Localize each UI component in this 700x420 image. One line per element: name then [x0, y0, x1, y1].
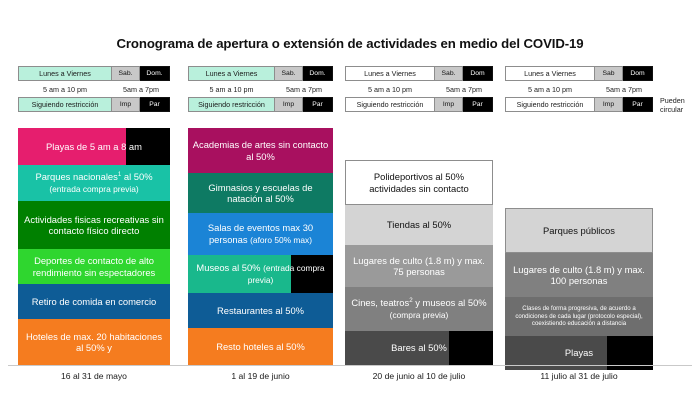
activity-label: Parques públicos — [543, 225, 615, 236]
activity-label: Cines, teatros2 y museos al 50% (compra … — [349, 297, 489, 321]
legend-hours-row: 5 am a 10 pm 5am a 7pm — [505, 81, 653, 97]
legend-odd-cell: Imp — [595, 97, 623, 112]
activity-label: Salas de eventos max 30 personas (aforo … — [192, 222, 329, 246]
legend-saturday-cell: Sab — [595, 66, 623, 81]
page-title: Cronograma de apertura o extensión de ac… — [0, 36, 700, 51]
legend-days-row: Lunes a Viernes Sab Dom — [505, 66, 653, 81]
activity-label: Clases de forma progresiva, de acuerdo a… — [509, 305, 649, 328]
legend-weekend-hours: 5am a 7pm — [275, 85, 333, 94]
activity-label: Polideportivos al 50% actividades sin co… — [350, 171, 488, 194]
activity-block: Polideportivos al 50% actividades sin co… — [345, 160, 493, 205]
activity-label: Actividades fisicas recreativas sin cont… — [22, 214, 166, 237]
activity-block: Lugares de culto (1.8 m) y max. 75 perso… — [345, 245, 493, 287]
legend-weekday-cell: Lunes a Viernes — [18, 66, 112, 81]
legend-saturday-cell: Sab. — [435, 66, 463, 81]
legend-restriction-cell: Siguiendo restricción — [345, 97, 435, 112]
activity-block: Cines, teatros2 y museos al 50% (compra … — [345, 287, 493, 331]
legend-column-2: Lunes a Viernes Sab. Dom. 5 am a 10 pm 5… — [188, 66, 333, 112]
legend-restriction-row: Siguiendo restricción Imp Par — [18, 97, 170, 112]
legend-weekend-hours: 5am a 7pm — [112, 85, 170, 94]
baseline-divider — [8, 365, 692, 366]
activity-block: Parques públicos — [505, 208, 653, 253]
legend-even-cell: Par — [140, 97, 170, 112]
legend-restriction-cell: Siguiendo restricción — [505, 97, 595, 112]
activity-label: Hoteles de max. 20 habitaciones al 50% y — [22, 331, 166, 354]
activity-label: Playas de 5 am a 8 am — [46, 141, 142, 152]
activity-block: Restaurantes al 50% — [188, 293, 333, 328]
legend-even-cell: Par — [463, 97, 493, 112]
legend-odd-cell: Imp — [275, 97, 303, 112]
activity-block: Retiro de comida en comercio — [18, 284, 170, 319]
legend-weekend-hours: 5am a 7pm — [435, 85, 493, 94]
legend-weekday-hours: 5 am a 10 pm — [345, 85, 435, 94]
activity-block: Academias de artes sin contacto al 50% — [188, 128, 333, 173]
legend-days-row: Lunes a Viernes Sab. Dom — [345, 66, 493, 81]
timeline-column-4: Parques públicosLugares de culto (1.8 m)… — [505, 208, 653, 370]
legend-weekday-cell: Lunes a Viernes — [345, 66, 435, 81]
timeline-column-1: Playas de 5 am a 8 amParques nacionales1… — [18, 128, 170, 365]
activity-block: Actividades fisicas recreativas sin cont… — [18, 201, 170, 249]
legend-hours-row: 5 am a 10 pm 5am a 7pm — [345, 81, 493, 97]
legend-weekday-hours: 5 am a 10 pm — [188, 85, 275, 94]
legend-saturday-cell: Sab. — [112, 66, 140, 81]
legend-weekday-hours: 5 am a 10 pm — [505, 85, 595, 94]
legend-sunday-cell: Dom. — [140, 66, 170, 81]
activity-label: Retiro de comida en comercio — [32, 296, 157, 307]
legend-weekday-cell: Lunes a Viernes — [188, 66, 275, 81]
legend-column-1: Lunes a Viernes Sab. Dom. 5 am a 10 pm 5… — [18, 66, 170, 112]
date-label-column-4: 11 julio al 31 de julio — [505, 371, 653, 381]
activity-label: Restaurantes al 50% — [217, 305, 304, 316]
activity-label: Playas — [565, 347, 593, 358]
legend-hours-row: 5 am a 10 pm 5am a 7pm — [18, 81, 170, 97]
activity-block: Hoteles de max. 20 habitaciones al 50% y — [18, 319, 170, 365]
activity-label: Bares al 50% — [391, 342, 447, 353]
activity-block: Gimnasios y escuelas de natación al 50% — [188, 173, 333, 213]
legend-restriction-cell: Siguiendo restricción — [188, 97, 275, 112]
activity-label: Deportes de contacto de alto rendimiento… — [22, 255, 166, 278]
activity-label: Lugares de culto (1.8 m) y max. 75 perso… — [349, 255, 489, 278]
activity-label: Academias de artes sin contacto al 50% — [192, 139, 329, 162]
timeline-column-3: Polideportivos al 50% actividades sin co… — [345, 160, 493, 365]
legend-weekend-hours: 5am a 7pm — [595, 85, 653, 94]
activity-block: Resto hoteles al 50% — [188, 328, 333, 365]
legend-days-row: Lunes a Viernes Sab. Dom. — [188, 66, 333, 81]
activity-label: Parques nacionales1 al 50% (entrada comp… — [22, 171, 166, 195]
legend-weekday-cell: Lunes a Viernes — [505, 66, 595, 81]
legend-column-4: Lunes a Viernes Sab Dom 5 am a 10 pm 5am… — [505, 66, 653, 112]
legend-sunday-cell: Dom. — [303, 66, 333, 81]
activity-label: Gimnasios y escuelas de natación al 50% — [192, 182, 329, 205]
legend-restriction-cell: Siguiendo restricción — [18, 97, 112, 112]
sunday-closed-marker — [449, 331, 493, 365]
legend-weekday-hours: 5 am a 10 pm — [18, 85, 112, 94]
legend-days-row: Lunes a Viernes Sab. Dom. — [18, 66, 170, 81]
activity-block: Bares al 50% — [345, 331, 493, 365]
legend-even-cell: Par — [623, 97, 653, 112]
legend-column-3: Lunes a Viernes Sab. Dom 5 am a 10 pm 5a… — [345, 66, 493, 112]
legend-saturday-cell: Sab. — [275, 66, 303, 81]
date-label-column-1: 16 al 31 de mayo — [18, 371, 170, 381]
legend-even-cell: Par — [303, 97, 333, 112]
activity-block: Salas de eventos max 30 personas (aforo … — [188, 213, 333, 255]
legend-restriction-row: Siguiendo restricción Imp Par — [188, 97, 333, 112]
legend-sunday-cell: Dom — [463, 66, 493, 81]
date-label-column-3: 20 de junio al 10 de julio — [345, 371, 493, 381]
timeline-column-2: Academias de artes sin contacto al 50%Gi… — [188, 128, 333, 365]
activity-block: Lugares de culto (1.8 m) y max. 100 pers… — [505, 253, 653, 297]
activity-block: Deportes de contacto de alto rendimiento… — [18, 249, 170, 284]
legend-odd-cell: Imp — [435, 97, 463, 112]
activity-block: Tiendas al 50% — [345, 205, 493, 245]
activity-label: Resto hoteles al 50% — [216, 341, 305, 352]
date-label-column-2: 1 al 19 de junio — [188, 371, 333, 381]
activity-block: Museos al 50% (entrada compra previa) — [188, 255, 333, 293]
activity-block: Parques nacionales1 al 50% (entrada comp… — [18, 165, 170, 201]
legend-hours-row: 5 am a 10 pm 5am a 7pm — [188, 81, 333, 97]
legend-odd-cell: Imp — [112, 97, 140, 112]
legend-restriction-row: Siguiendo restricción Imp Par — [505, 97, 653, 112]
circulate-note: Pueden circular — [660, 96, 700, 114]
legend-sunday-cell: Dom — [623, 66, 653, 81]
activity-label: Tiendas al 50% — [387, 219, 451, 230]
legend-restriction-row: Siguiendo restricción Imp Par — [345, 97, 493, 112]
activity-block: Playas de 5 am a 8 am — [18, 128, 170, 165]
activity-block: Clases de forma progresiva, de acuerdo a… — [505, 297, 653, 336]
activity-label: Museos al 50% (entrada compra previa) — [192, 262, 329, 287]
activity-label: Lugares de culto (1.8 m) y max. 100 pers… — [509, 264, 649, 287]
